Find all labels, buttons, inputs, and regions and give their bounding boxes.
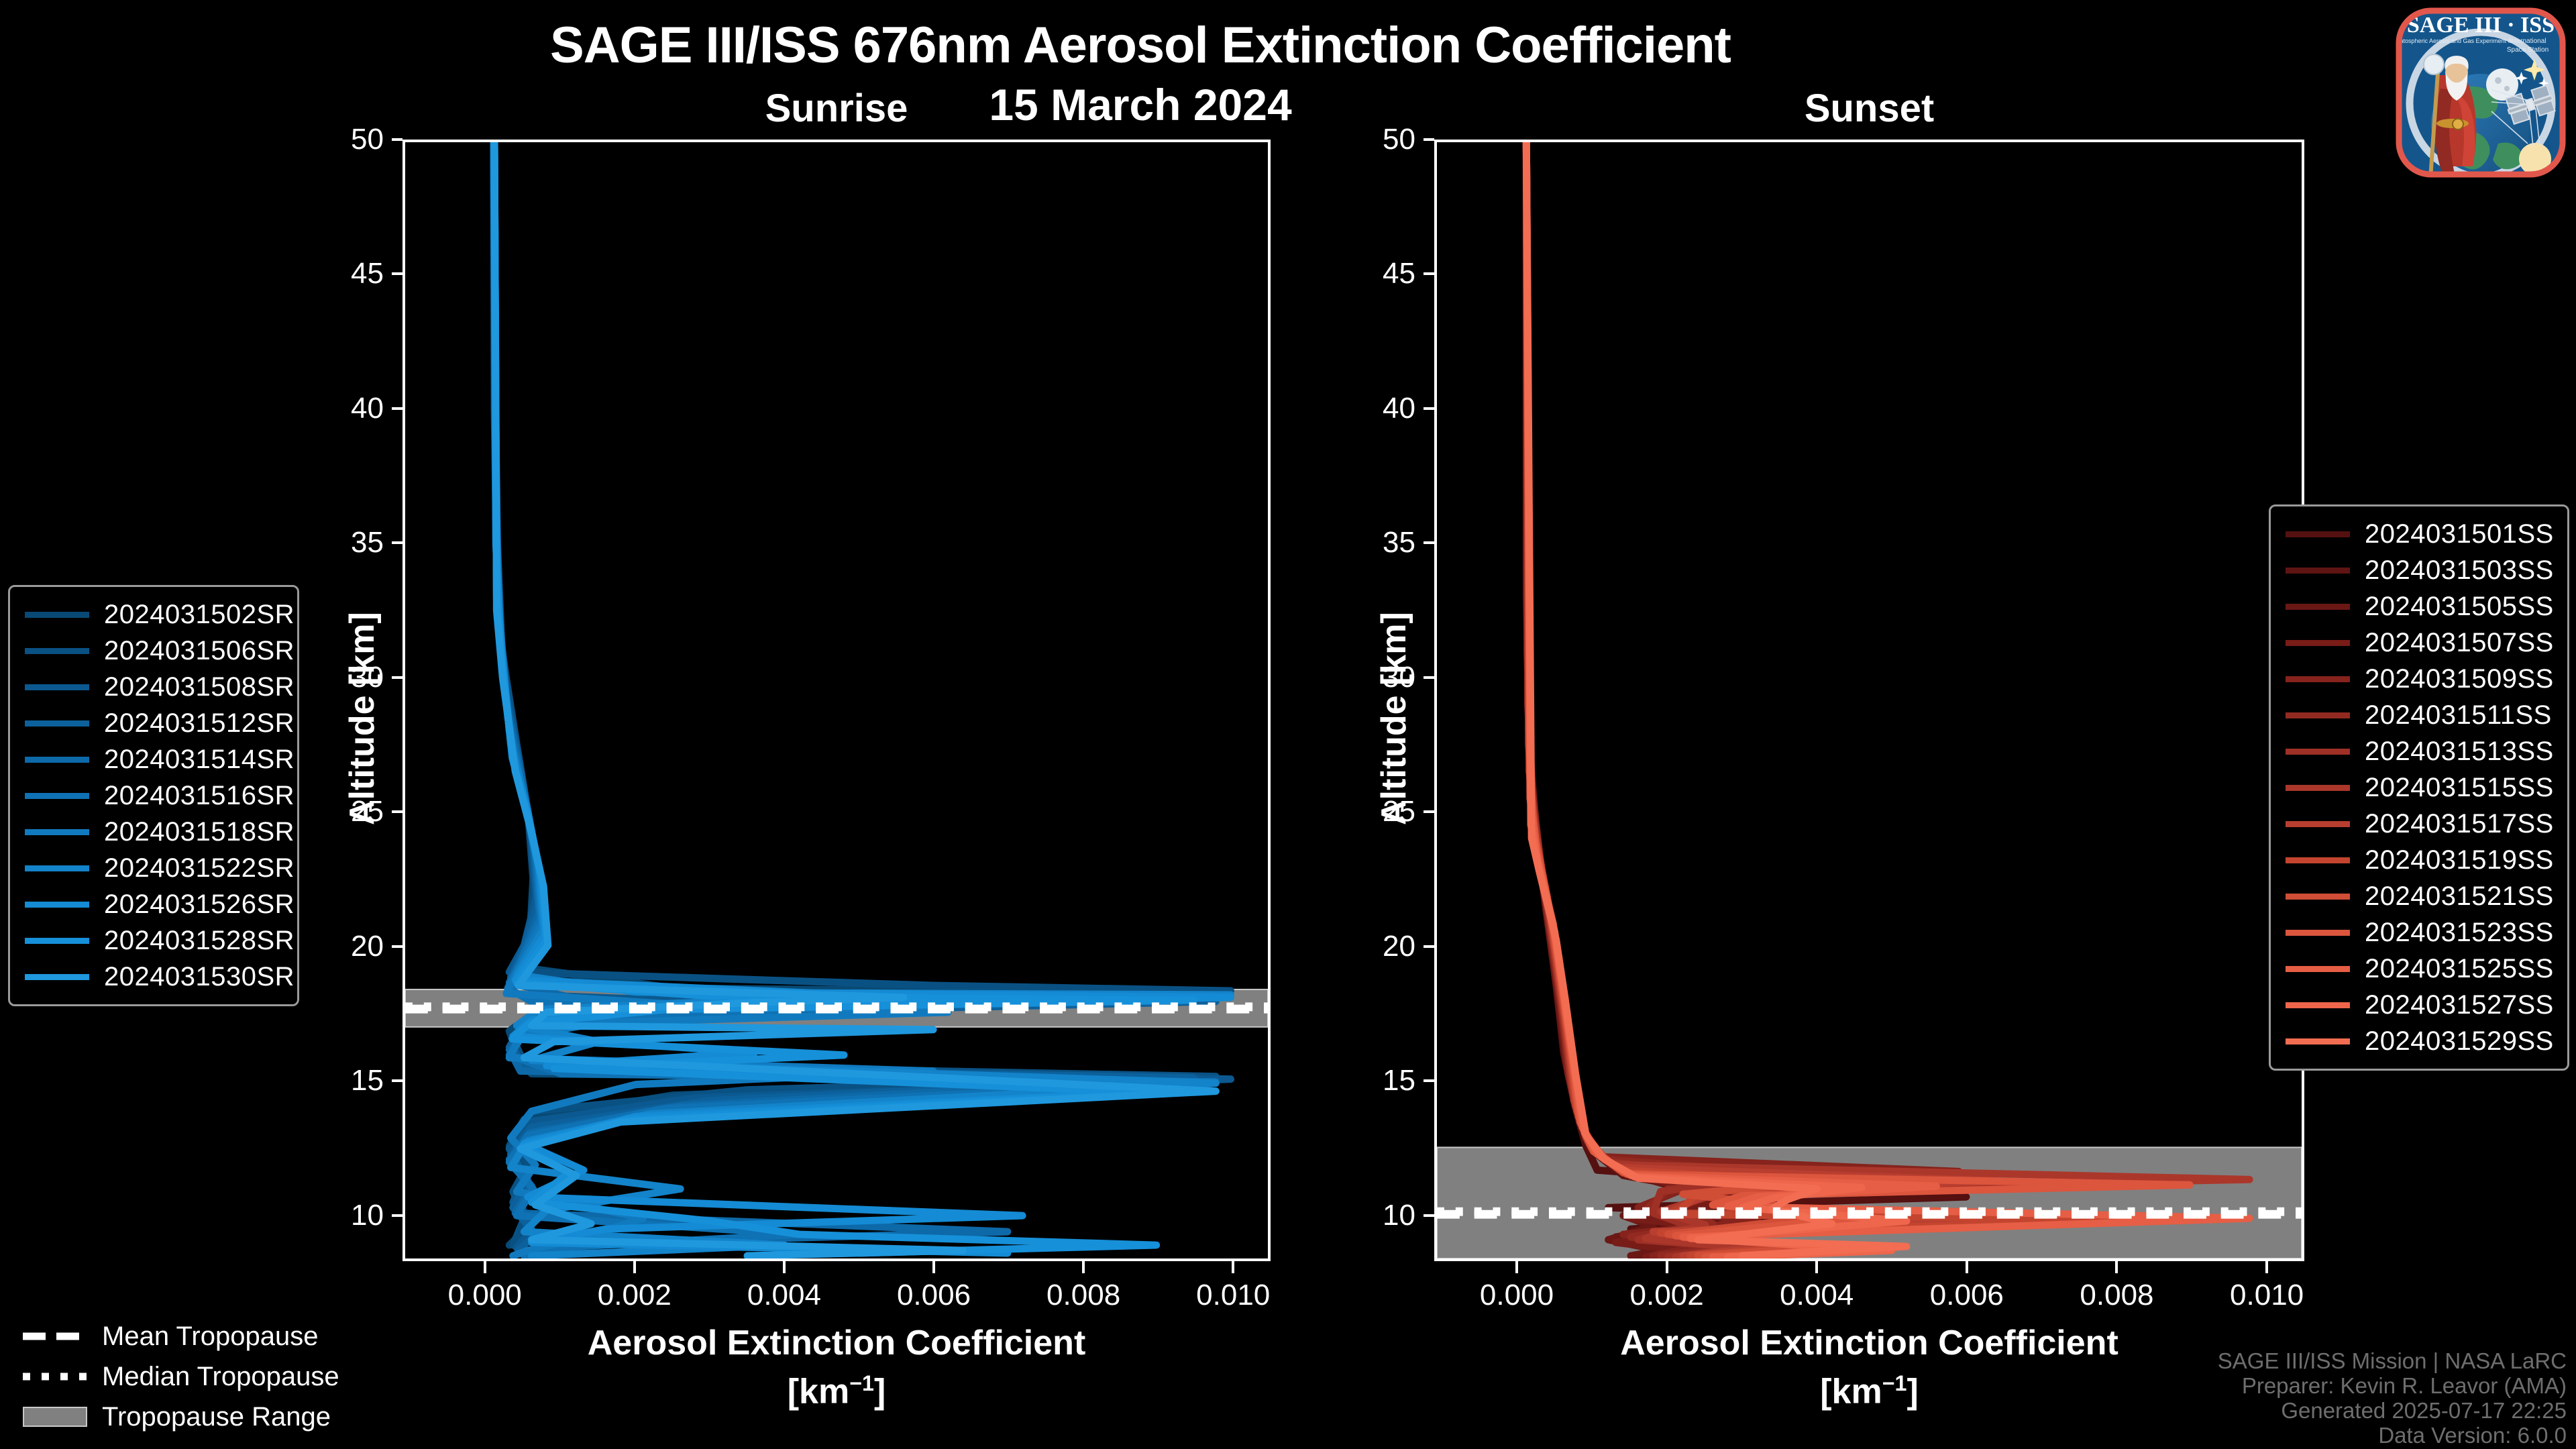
ytick-mark: [1424, 1214, 1434, 1217]
legend-color-swatch: [2286, 531, 2350, 537]
ytick-label-35: 35: [315, 526, 396, 559]
legend-label: 2024031509SS: [2365, 664, 2554, 694]
sunrise-xaxis-title: Aerosol Extinction Coefficient: [402, 1323, 1271, 1363]
ytick-mark: [1424, 541, 1434, 544]
legend-label: 2024031528SR: [104, 926, 294, 956]
legend-item-2024031509SS[interactable]: 2024031509SS: [2282, 661, 2554, 697]
series-line-2024031523SS: [1526, 142, 2190, 1257]
credits-line: Preparer: Kevin R. Leavor (AMA): [2218, 1373, 2567, 1398]
ytick-mark: [392, 1214, 402, 1217]
credits-line: Generated 2025-07-17 22:25: [2218, 1398, 2567, 1423]
ytick-mark: [392, 407, 402, 410]
legend-label: 2024031530SR: [104, 962, 294, 992]
xtick-mark: [1966, 1261, 1968, 1273]
xtick-label-0.010: 0.010: [1196, 1279, 1270, 1312]
ytick-label-10: 10: [315, 1199, 396, 1232]
legend-item-2024031513SS[interactable]: 2024031513SS: [2282, 733, 2554, 769]
legend-label: 2024031501SS: [2365, 519, 2554, 549]
legend-label: 2024031511SS: [2365, 700, 2552, 731]
xtick-mark: [2265, 1261, 2268, 1273]
xaxis-units-tail-2: ]: [1907, 1372, 1918, 1411]
xtick-mark: [1515, 1261, 1518, 1273]
legend-item-2024031501SS[interactable]: 2024031501SS: [2282, 516, 2554, 552]
legend-item-2024031508SR[interactable]: 2024031508SR: [21, 669, 284, 705]
legend-item-2024031514SR[interactable]: 2024031514SR: [21, 741, 284, 777]
legend-color-swatch: [25, 720, 89, 727]
ytick-label-45: 45: [315, 257, 396, 290]
ytick-label-20: 20: [1347, 930, 1428, 963]
ytick-mark: [1424, 810, 1434, 813]
median-tropopause-key-icon: [23, 1368, 87, 1385]
xtick-label-0.004: 0.004: [747, 1279, 821, 1312]
legend-color-swatch: [2286, 712, 2350, 718]
legend-label: 2024031502SR: [104, 600, 294, 630]
legend-label: 2024031529SS: [2365, 1026, 2554, 1057]
sunset-xaxis-title: Aerosol Extinction Coefficient: [1434, 1323, 2304, 1363]
xtick-label-0.000: 0.000: [448, 1279, 522, 1312]
legend-item-2024031506SR[interactable]: 2024031506SR: [21, 633, 284, 669]
legend-item-2024031503SS[interactable]: 2024031503SS: [2282, 552, 2554, 588]
ytick-label-35: 35: [1347, 526, 1428, 559]
legend-item-2024031517SS[interactable]: 2024031517SS: [2282, 806, 2554, 842]
legend-label: 2024031516SR: [104, 781, 294, 811]
sunset-plot-panel: [1434, 140, 2304, 1261]
legend-item-2024031522SR[interactable]: 2024031522SR: [21, 850, 284, 886]
sunrise-xaxis-units: [km−1]: [402, 1371, 1271, 1411]
legend-label: 2024031507SS: [2365, 628, 2554, 658]
legend-color-swatch: [2286, 930, 2350, 936]
xtick-mark: [932, 1261, 935, 1273]
patch-title: SAGE III · ISS: [2407, 13, 2555, 38]
xtick-label-0.006: 0.006: [897, 1279, 971, 1312]
ytick-label-50: 50: [1347, 123, 1428, 156]
patch-subtitle-right-1: International: [2509, 38, 2546, 45]
xtick-label-0.002: 0.002: [598, 1279, 672, 1312]
ytick-mark: [1424, 407, 1434, 410]
legend-color-swatch: [2286, 676, 2350, 682]
xtick-label-0.010: 0.010: [2230, 1279, 2304, 1312]
legend-color-swatch: [2286, 821, 2350, 827]
xtick-mark: [484, 1261, 486, 1273]
xtick-mark: [633, 1261, 636, 1273]
tropopause-legend: Mean TropopauseMedian TropopauseTropopau…: [12, 1316, 361, 1437]
sunset-plot-canvas: [1437, 142, 2302, 1258]
ytick-label-45: 45: [1347, 257, 1428, 290]
ytick-mark: [1424, 138, 1434, 141]
xtick-mark: [1232, 1261, 1234, 1273]
legend-color-swatch: [2286, 568, 2350, 574]
series-line-2024031519SS: [1526, 142, 2175, 1256]
ytick-mark: [392, 1079, 402, 1082]
legend-label: 2024031512SR: [104, 708, 294, 739]
legend-color-swatch: [2286, 640, 2350, 646]
legend-item-2024031511SS[interactable]: 2024031511SS: [2282, 697, 2554, 733]
series-line-2024031507SS: [1526, 142, 1727, 1257]
sunset-series-legend[interactable]: 2024031501SS2024031503SS2024031505SS2024…: [2269, 504, 2569, 1071]
series-line-2024031501SS: [1526, 142, 1966, 1253]
ytick-mark: [1424, 272, 1434, 275]
xaxis-units-exponent-2: −1: [1882, 1371, 1907, 1395]
legend-color-swatch: [25, 648, 89, 654]
legend-item-2024031525SS[interactable]: 2024031525SS: [2282, 951, 2554, 987]
ytick-label-20: 20: [315, 930, 396, 963]
legend-item-2024031502SR[interactable]: 2024031502SR: [21, 596, 284, 633]
page-title: SAGE III/ISS 676nm Aerosol Extinction Co…: [0, 16, 2281, 74]
ytick-mark: [392, 138, 402, 141]
series-line-2024031515SS: [1526, 142, 2249, 1257]
ytick-label-15: 15: [1347, 1064, 1428, 1097]
xtick-label-0.008: 0.008: [1046, 1279, 1120, 1312]
legend-item-2024031529SS[interactable]: 2024031529SS: [2282, 1023, 2554, 1059]
legend-color-swatch: [25, 938, 89, 944]
sunrise-plot-panel: [402, 140, 1271, 1261]
legend-color-swatch: [2286, 1002, 2350, 1008]
legend-item-2024031515SS[interactable]: 2024031515SS: [2282, 769, 2554, 806]
legend-color-swatch: [2286, 857, 2350, 863]
ytick-mark: [392, 272, 402, 275]
legend-color-swatch: [25, 757, 89, 763]
legend-color-swatch: [2286, 749, 2350, 755]
legend-item-2024031512SR[interactable]: 2024031512SR: [21, 705, 284, 741]
legend-color-swatch: [25, 684, 89, 690]
xaxis-units-exponent: −1: [849, 1371, 874, 1395]
xaxis-units-base-2: [km: [1820, 1372, 1882, 1411]
patch-subtitle-right-2: Space Station: [2507, 46, 2548, 54]
series-line-2024031505SS: [1526, 142, 1727, 1256]
legend-item-2024031518SR[interactable]: 2024031518SR: [21, 814, 284, 850]
median-tropopause-label: Median Tropopause: [102, 1362, 339, 1392]
legend-label: 2024031515SS: [2365, 773, 2554, 803]
legend-color-swatch: [25, 829, 89, 835]
legend-label: 2024031514SR: [104, 745, 294, 775]
sunrise-panel-heading: Sunrise: [402, 86, 1271, 131]
ytick-label-15: 15: [315, 1064, 396, 1097]
legend-label: 2024031519SS: [2365, 845, 2554, 875]
credits-block: SAGE III/ISS Mission | NASA LaRCPreparer…: [2218, 1348, 2567, 1448]
xtick-mark: [783, 1261, 786, 1273]
series-line-2024031529SS: [1526, 142, 1907, 1256]
series-line-2024031517SS: [1526, 142, 2085, 1256]
legend-item-2024031523SS[interactable]: 2024031523SS: [2282, 914, 2554, 951]
legend-label: 2024031517SS: [2365, 809, 2554, 839]
legend-color-swatch: [2286, 604, 2350, 610]
tropopause-range-label: Tropopause Range: [102, 1402, 331, 1432]
xtick-label-0.002: 0.002: [1630, 1279, 1704, 1312]
ytick-mark: [392, 810, 402, 813]
xtick-mark: [1815, 1261, 1818, 1273]
ytick-mark: [1424, 945, 1434, 948]
legend-label: 2024031526SR: [104, 890, 294, 920]
series-line-2024031525SS: [1526, 142, 2249, 1257]
legend-color-swatch: [25, 612, 89, 618]
sunset-yaxis-title: Altitude [km]: [1374, 612, 1414, 825]
legend-item-2024031528SR[interactable]: 2024031528SR: [21, 922, 284, 959]
credits-line: Data Version: 6.0.0: [2218, 1423, 2567, 1448]
legend-color-swatch: [25, 974, 89, 980]
legend-label: 2024031508SR: [104, 672, 294, 702]
ytick-mark: [392, 676, 402, 679]
credits-line: SAGE III/ISS Mission | NASA LaRC: [2218, 1348, 2567, 1373]
patch-subtitle-left: Stratospheric Aerosol and Gas Experiment…: [2392, 38, 2513, 44]
xtick-mark: [1082, 1261, 1085, 1273]
series-line-2024031513SS: [1526, 142, 1757, 1257]
ytick-mark: [1424, 1079, 1434, 1082]
legend-label: 2024031503SS: [2365, 555, 2554, 586]
xtick-mark: [1666, 1261, 1668, 1273]
legend-color-swatch: [25, 793, 89, 799]
legend-item-2024031507SS[interactable]: 2024031507SS: [2282, 625, 2554, 661]
legend-label: 2024031522SR: [104, 853, 294, 883]
legend-color-swatch: [25, 902, 89, 908]
xtick-label-0.004: 0.004: [1780, 1279, 1854, 1312]
legend-item-2024031521SS[interactable]: 2024031521SS: [2282, 878, 2554, 914]
legend-color-swatch: [2286, 894, 2350, 900]
ytick-label-50: 50: [315, 123, 396, 156]
xtick-label-0.000: 0.000: [1480, 1279, 1554, 1312]
tropopause-legend-item-mean-tropopause: Mean Tropopause: [12, 1316, 361, 1356]
legend-color-swatch: [2286, 966, 2350, 972]
ytick-label-40: 40: [1347, 392, 1428, 425]
legend-color-swatch: [2286, 785, 2350, 791]
xaxis-units-base: [km: [788, 1372, 849, 1411]
legend-label: 2024031525SS: [2365, 954, 2554, 984]
mean-tropopause-key-icon: [23, 1328, 87, 1345]
legend-item-2024031505SS[interactable]: 2024031505SS: [2282, 588, 2554, 625]
sunset-panel-heading: Sunset: [1434, 86, 2304, 131]
series-line-2024031509SS: [1526, 142, 1958, 1256]
legend-label: 2024031518SR: [104, 817, 294, 847]
sunset-xaxis-units: [km−1]: [1434, 1371, 2304, 1411]
tropopause-range-key-icon: [23, 1407, 87, 1427]
series-line-2024031503SS: [1526, 142, 1757, 1256]
ytick-mark: [392, 541, 402, 544]
legend-item-2024031516SR[interactable]: 2024031516SR: [21, 777, 284, 814]
legend-item-2024031527SS[interactable]: 2024031527SS: [2282, 987, 2554, 1023]
tropopause-legend-item-median-tropopause: Median Tropopause: [12, 1356, 361, 1397]
legend-color-swatch: [25, 865, 89, 871]
legend-item-2024031526SR[interactable]: 2024031526SR: [21, 886, 284, 922]
sage-iii-iss-mission-patch-icon: SAGE III · ISS Stratospheric Aerosol and…: [2391, 3, 2571, 182]
ytick-label-40: 40: [315, 392, 396, 425]
legend-label: 2024031523SS: [2365, 918, 2554, 948]
xaxis-units-tail: ]: [874, 1372, 885, 1411]
series-line-2024031527SS: [1526, 142, 1907, 1257]
legend-label: 2024031506SR: [104, 636, 294, 666]
legend-item-2024031519SS[interactable]: 2024031519SS: [2282, 842, 2554, 878]
sunrise-yaxis-title: Altitude [km]: [342, 612, 382, 825]
ytick-mark: [1424, 676, 1434, 679]
legend-item-2024031530SR[interactable]: 2024031530SR: [21, 959, 284, 995]
xtick-label-0.006: 0.006: [1930, 1279, 2004, 1312]
xtick-mark: [2115, 1261, 2118, 1273]
legend-label: 2024031505SS: [2365, 592, 2554, 622]
ytick-label-10: 10: [1347, 1199, 1428, 1232]
mean-tropopause-label: Mean Tropopause: [102, 1322, 318, 1352]
sunrise-plot-canvas: [405, 142, 1268, 1258]
legend-color-swatch: [2286, 1038, 2350, 1044]
ytick-mark: [392, 945, 402, 948]
tropopause-legend-item-tropopause-range: Tropopause Range: [12, 1397, 361, 1437]
legend-label: 2024031513SS: [2365, 737, 2554, 767]
legend-label: 2024031521SS: [2365, 881, 2554, 912]
legend-label: 2024031527SS: [2365, 990, 2554, 1020]
sunrise-series-legend[interactable]: 2024031502SR2024031506SR2024031508SR2024…: [8, 585, 299, 1006]
xtick-label-0.008: 0.008: [2080, 1279, 2153, 1312]
